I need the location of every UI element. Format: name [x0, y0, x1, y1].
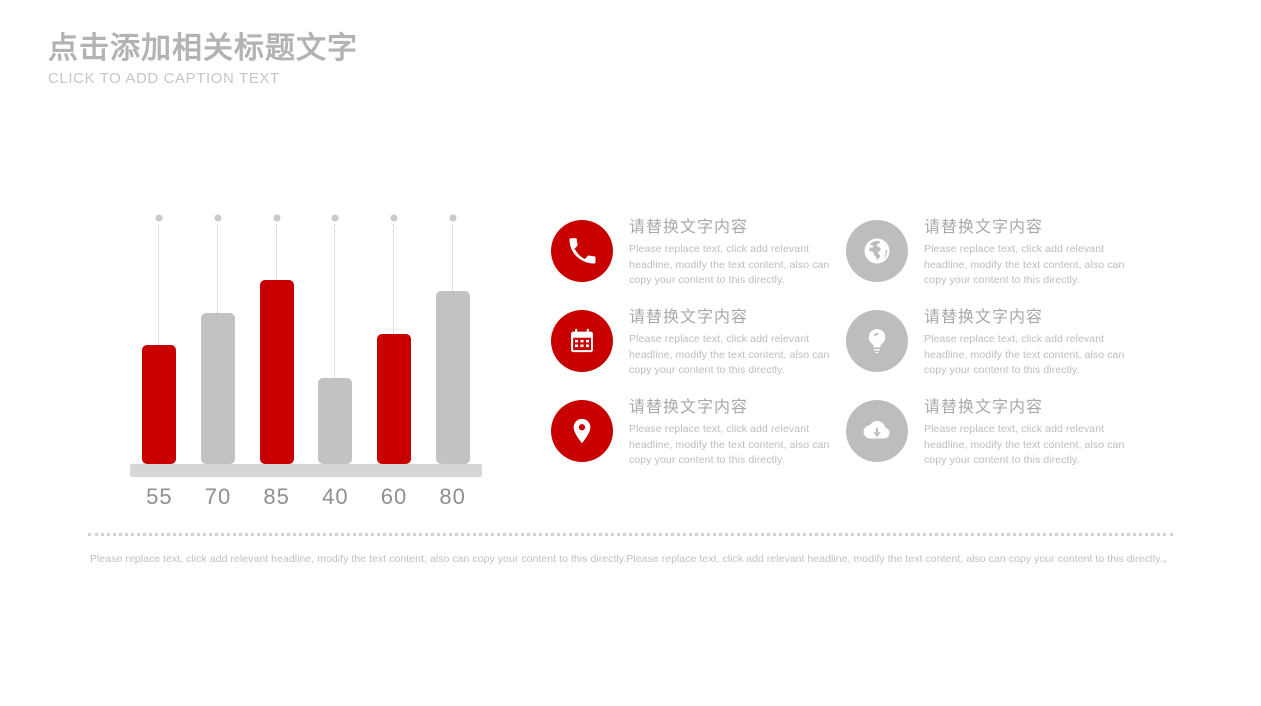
leader-dot-icon	[156, 215, 163, 222]
chart-bar-column	[201, 218, 235, 464]
feature-title: 请替换文字内容	[924, 398, 1136, 417]
feature-item[interactable]: 请替换文字内容Please replace text, click add re…	[846, 398, 1136, 469]
leader-line	[452, 224, 454, 291]
globe-icon[interactable]	[846, 220, 908, 282]
chart-bar-column	[436, 218, 470, 464]
feature-text-block: 请替换文字内容Please replace text, click add re…	[908, 308, 1136, 379]
chart-axis-label: 80	[425, 484, 481, 510]
feature-item[interactable]: 请替换文字内容Please replace text, click add re…	[551, 218, 841, 289]
feature-title: 请替换文字内容	[924, 308, 1136, 327]
feature-body: Please replace text, click add relevant …	[924, 242, 1136, 289]
feature-body: Please replace text, click add relevant …	[629, 242, 841, 289]
feature-text-block: 请替换文字内容Please replace text, click add re…	[613, 308, 841, 379]
leader-line	[158, 224, 160, 345]
feature-title: 请替换文字内容	[629, 308, 841, 327]
leader-dot-icon	[449, 215, 456, 222]
leader-dot-icon	[215, 215, 222, 222]
chart-bar[interactable]	[318, 378, 352, 464]
feature-text-block: 请替换文字内容Please replace text, click add re…	[613, 218, 841, 289]
chart-bar-column	[260, 218, 294, 464]
feature-body: Please replace text, click add relevant …	[924, 422, 1136, 469]
feature-list: 请替换文字内容Please replace text, click add re…	[551, 218, 1151, 508]
leader-dot-icon	[273, 215, 280, 222]
chart-axis-label: 55	[131, 484, 187, 510]
page-title: 点击添加相关标题文字	[48, 33, 748, 65]
chart-bar-column	[142, 218, 176, 464]
chart-plot-area	[130, 218, 482, 464]
leader-line	[334, 224, 336, 378]
cloud-download-icon[interactable]	[846, 400, 908, 462]
page-subtitle: CLICK TO ADD CAPTION TEXT	[48, 70, 748, 87]
chart-baseline	[130, 464, 482, 477]
phone-icon[interactable]	[551, 220, 613, 282]
feature-title: 请替换文字内容	[629, 218, 841, 237]
chart-axis-label: 40	[307, 484, 363, 510]
leader-dot-icon	[391, 215, 398, 222]
leader-line	[393, 224, 395, 334]
feature-text-block: 请替换文字内容Please replace text, click add re…	[613, 398, 841, 469]
leader-line	[217, 224, 219, 313]
chart-axis-label: 60	[366, 484, 422, 510]
feature-text-block: 请替换文字内容Please replace text, click add re…	[908, 218, 1136, 289]
bar-chart: 557085406080	[130, 218, 482, 508]
page-header: 点击添加相关标题文字 CLICK TO ADD CAPTION TEXT	[48, 33, 748, 87]
feature-title: 请替换文字内容	[924, 218, 1136, 237]
feature-title: 请替换文字内容	[629, 398, 841, 417]
feature-item[interactable]: 请替换文字内容Please replace text, click add re…	[846, 218, 1136, 289]
feature-item[interactable]: 请替换文字内容Please replace text, click add re…	[551, 308, 841, 379]
feature-item[interactable]: 请替换文字内容Please replace text, click add re…	[846, 308, 1136, 379]
chart-bar[interactable]	[436, 291, 470, 464]
footer-divider	[88, 533, 1173, 536]
chart-bar-column	[318, 218, 352, 464]
chart-axis-label: 70	[190, 484, 246, 510]
feature-body: Please replace text, click add relevant …	[629, 332, 841, 379]
footer-note: Please replace text, click add relevant …	[90, 552, 1175, 568]
chart-bar[interactable]	[260, 280, 294, 464]
chart-axis-labels: 557085406080	[130, 484, 482, 514]
feature-body: Please replace text, click add relevant …	[924, 332, 1136, 379]
chart-bar[interactable]	[377, 334, 411, 464]
feature-text-block: 请替换文字内容Please replace text, click add re…	[908, 398, 1136, 469]
calendar-icon[interactable]	[551, 310, 613, 372]
leader-dot-icon	[332, 215, 339, 222]
chart-bar-column	[377, 218, 411, 464]
feature-body: Please replace text, click add relevant …	[629, 422, 841, 469]
chart-bar[interactable]	[142, 345, 176, 464]
feature-item[interactable]: 请替换文字内容Please replace text, click add re…	[551, 398, 841, 469]
map-pin-icon[interactable]	[551, 400, 613, 462]
chart-axis-label: 85	[249, 484, 305, 510]
leader-line	[276, 224, 278, 280]
lightbulb-icon[interactable]	[846, 310, 908, 372]
chart-bar[interactable]	[201, 313, 235, 464]
